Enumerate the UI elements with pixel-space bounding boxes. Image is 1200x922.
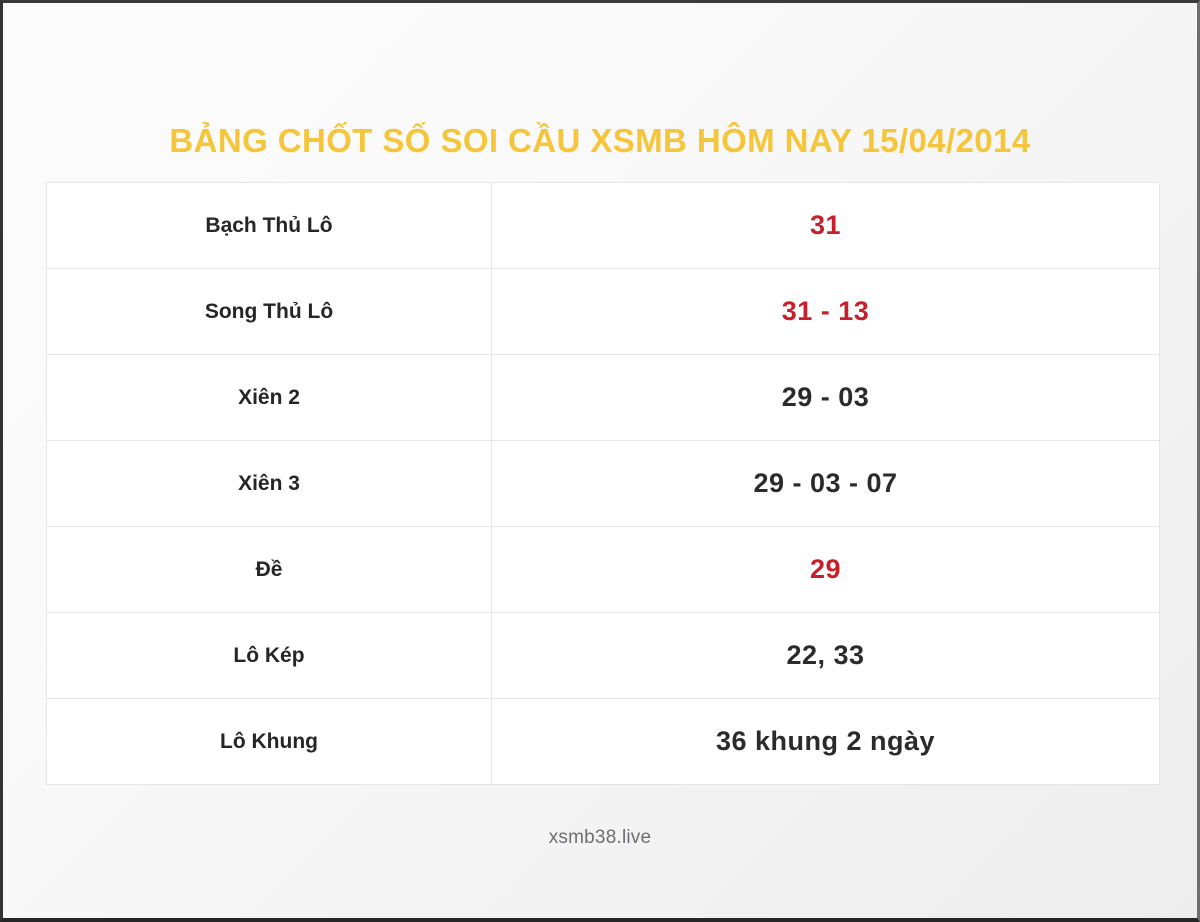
page-canvas: BẢNG CHỐT SỐ SOI CẦU XSMB HÔM NAY 15/04/… <box>3 3 1197 918</box>
table-row: Đề29 <box>47 527 1159 613</box>
table-row: Bạch Thủ Lô31 <box>47 183 1159 269</box>
table-row-label: Song Thủ Lô <box>47 269 492 354</box>
page-title-container: BẢNG CHỐT SỐ SOI CẦU XSMB HÔM NAY 15/04/… <box>3 98 1197 184</box>
table-row-label: Bạch Thủ Lô <box>47 183 492 268</box>
table-row-value: 31 - 13 <box>492 269 1159 354</box>
table-row-value: 22, 33 <box>492 613 1159 698</box>
table-row-label: Xiên 2 <box>47 355 492 440</box>
table-row: Song Thủ Lô31 - 13 <box>47 269 1159 355</box>
table-row-label: Lô Kép <box>47 613 492 698</box>
table-row: Lô Kép22, 33 <box>47 613 1159 699</box>
table-row-value: 36 khung 2 ngày <box>492 699 1159 784</box>
table-row: Lô Khung36 khung 2 ngày <box>47 699 1159 785</box>
table-row-value: 29 - 03 - 07 <box>492 441 1159 526</box>
table-row-value: 29 - 03 <box>492 355 1159 440</box>
table-row-value: 31 <box>492 183 1159 268</box>
footer: xsmb38.live <box>3 827 1197 849</box>
table-row-label: Xiên 3 <box>47 441 492 526</box>
table-row: Xiên 229 - 03 <box>47 355 1159 441</box>
prediction-table: Bạch Thủ Lô31Song Thủ Lô31 - 13Xiên 229 … <box>46 182 1160 785</box>
site-watermark: xsmb38.live <box>549 827 652 849</box>
page-frame: BẢNG CHỐT SỐ SOI CẦU XSMB HÔM NAY 15/04/… <box>0 0 1200 922</box>
table-row-label: Lô Khung <box>47 699 492 784</box>
table-row-label: Đề <box>47 527 492 612</box>
page-title: BẢNG CHỐT SỐ SOI CẦU XSMB HÔM NAY 15/04/… <box>169 120 1030 162</box>
table-row-value: 29 <box>492 527 1159 612</box>
table-row: Xiên 329 - 03 - 07 <box>47 441 1159 527</box>
